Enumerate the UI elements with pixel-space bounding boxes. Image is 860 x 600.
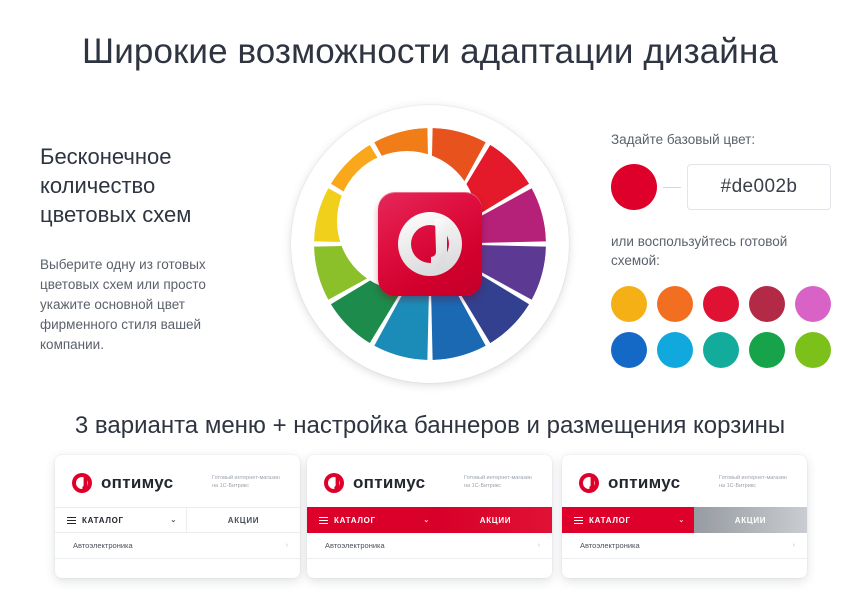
optimus-logo-icon bbox=[71, 472, 93, 494]
chevron-down-icon: ⌄ bbox=[413, 516, 430, 524]
color-picker-panel: Задайте базовый цвет: #de002b или воспол… bbox=[611, 130, 831, 368]
catalog-button[interactable]: Каталог⌄ bbox=[307, 507, 439, 533]
current-color-dot[interactable] bbox=[611, 164, 657, 210]
scheme-swatch-sky[interactable] bbox=[657, 332, 693, 368]
promotions-button[interactable]: Акции bbox=[439, 507, 552, 533]
page-title: Широкие возможности адаптации дизайна bbox=[0, 32, 860, 72]
menu-variant-card[interactable]: оптимусГотовый интернет-магазин на 1С-Би… bbox=[55, 455, 300, 578]
scheme-swatch-teal[interactable] bbox=[703, 332, 739, 368]
chevron-right-icon: › bbox=[793, 542, 795, 549]
menu-variant-cards: оптимусГотовый интернет-магазин на 1С-Би… bbox=[0, 455, 860, 600]
optimus-logo-icon bbox=[323, 472, 345, 494]
catalog-label: Каталог bbox=[82, 516, 124, 525]
schemes-label: или воспользуйтесь готовой схемой: bbox=[611, 232, 831, 270]
scheme-swatch-blue[interactable] bbox=[611, 332, 647, 368]
catalog-sub-item[interactable]: Автоэлектроника› bbox=[55, 533, 300, 559]
brand[interactable]: оптимус bbox=[578, 472, 680, 494]
picker-row: #de002b bbox=[611, 164, 831, 210]
brand-name: оптимус bbox=[101, 473, 173, 493]
card-footer bbox=[55, 559, 300, 577]
sub-item-label: Автоэлектроника bbox=[325, 541, 385, 550]
brand[interactable]: оптимус bbox=[323, 472, 425, 494]
scheme-swatch-grid[interactable] bbox=[611, 286, 831, 368]
catalog-sub-item[interactable]: Автоэлектроника› bbox=[562, 533, 807, 559]
optimus-logo-icon bbox=[395, 209, 465, 279]
hex-input[interactable]: #de002b bbox=[687, 164, 831, 210]
color-wheel[interactable] bbox=[291, 105, 569, 383]
chevron-right-icon: › bbox=[538, 542, 540, 549]
left-heading: Бесконечное количество цветовых схем bbox=[40, 142, 255, 229]
chevron-right-icon: › bbox=[286, 542, 288, 549]
sub-item-label: Автоэлектроника bbox=[73, 541, 133, 550]
scheme-swatch-green[interactable] bbox=[749, 332, 785, 368]
chevron-down-icon: ⌄ bbox=[160, 516, 177, 524]
optimus-logo-icon bbox=[578, 472, 600, 494]
optimus-logo-tile bbox=[378, 192, 482, 296]
scheme-swatch-crimson[interactable] bbox=[703, 286, 739, 322]
card-footer bbox=[307, 559, 552, 577]
menu-variant-card[interactable]: оптимусГотовый интернет-магазин на 1С-Би… bbox=[307, 455, 552, 578]
catalog-label: Каталог bbox=[589, 516, 631, 525]
scheme-swatch-raspberry[interactable] bbox=[749, 286, 785, 322]
card-header: оптимусГотовый интернет-магазин на 1С-Би… bbox=[307, 455, 552, 507]
scheme-swatch-orchid[interactable] bbox=[795, 286, 831, 322]
catalog-button[interactable]: Каталог⌄ bbox=[562, 507, 694, 533]
catalog-label: Каталог bbox=[334, 516, 376, 525]
scheme-swatch-lime[interactable] bbox=[795, 332, 831, 368]
scheme-swatch-amber[interactable] bbox=[611, 286, 647, 322]
menu-bar: Каталог⌄Акции bbox=[562, 507, 807, 533]
left-text-column: Бесконечное количество цветовых схем Выб… bbox=[40, 142, 255, 355]
catalog-button[interactable]: Каталог⌄ bbox=[55, 508, 187, 532]
promotions-button[interactable]: Акции bbox=[694, 507, 807, 533]
brand-name: оптимус bbox=[353, 473, 425, 493]
sub-item-label: Автоэлектроника bbox=[580, 541, 640, 550]
picker-label: Задайте базовый цвет: bbox=[611, 130, 831, 149]
brand-name: оптимус bbox=[608, 473, 680, 493]
menu-bar: Каталог⌄Акции bbox=[307, 507, 552, 533]
picker-connector bbox=[663, 187, 681, 188]
card-footer bbox=[562, 559, 807, 577]
brand-tagline: Готовый интернет-магазин на 1С-Битрикс bbox=[212, 472, 286, 490]
chevron-down-icon: ⌄ bbox=[668, 516, 685, 524]
menu-bar: Каталог⌄Акции bbox=[55, 507, 300, 533]
brand-tagline: Готовый интернет-магазин на 1С-Битрикс bbox=[719, 472, 793, 490]
hamburger-icon bbox=[319, 517, 328, 524]
menu-variant-card[interactable]: оптимусГотовый интернет-магазин на 1С-Би… bbox=[562, 455, 807, 578]
section-subtitle: 3 варианта меню + настройка баннеров и р… bbox=[0, 412, 860, 440]
left-body-text: Выберите одну из готовых цветовых схем и… bbox=[40, 255, 255, 355]
hamburger-icon bbox=[67, 517, 76, 524]
card-header: оптимусГотовый интернет-магазин на 1С-Би… bbox=[562, 455, 807, 507]
card-header: оптимусГотовый интернет-магазин на 1С-Би… bbox=[55, 455, 300, 507]
brand[interactable]: оптимус bbox=[71, 472, 173, 494]
brand-tagline: Готовый интернет-магазин на 1С-Битрикс bbox=[464, 472, 538, 490]
hamburger-icon bbox=[574, 517, 583, 524]
catalog-sub-item[interactable]: Автоэлектроника› bbox=[307, 533, 552, 559]
scheme-swatch-orange[interactable] bbox=[657, 286, 693, 322]
landing-page: Широкие возможности адаптации дизайна Бе… bbox=[0, 0, 860, 600]
promotions-button[interactable]: Акции bbox=[187, 508, 300, 532]
